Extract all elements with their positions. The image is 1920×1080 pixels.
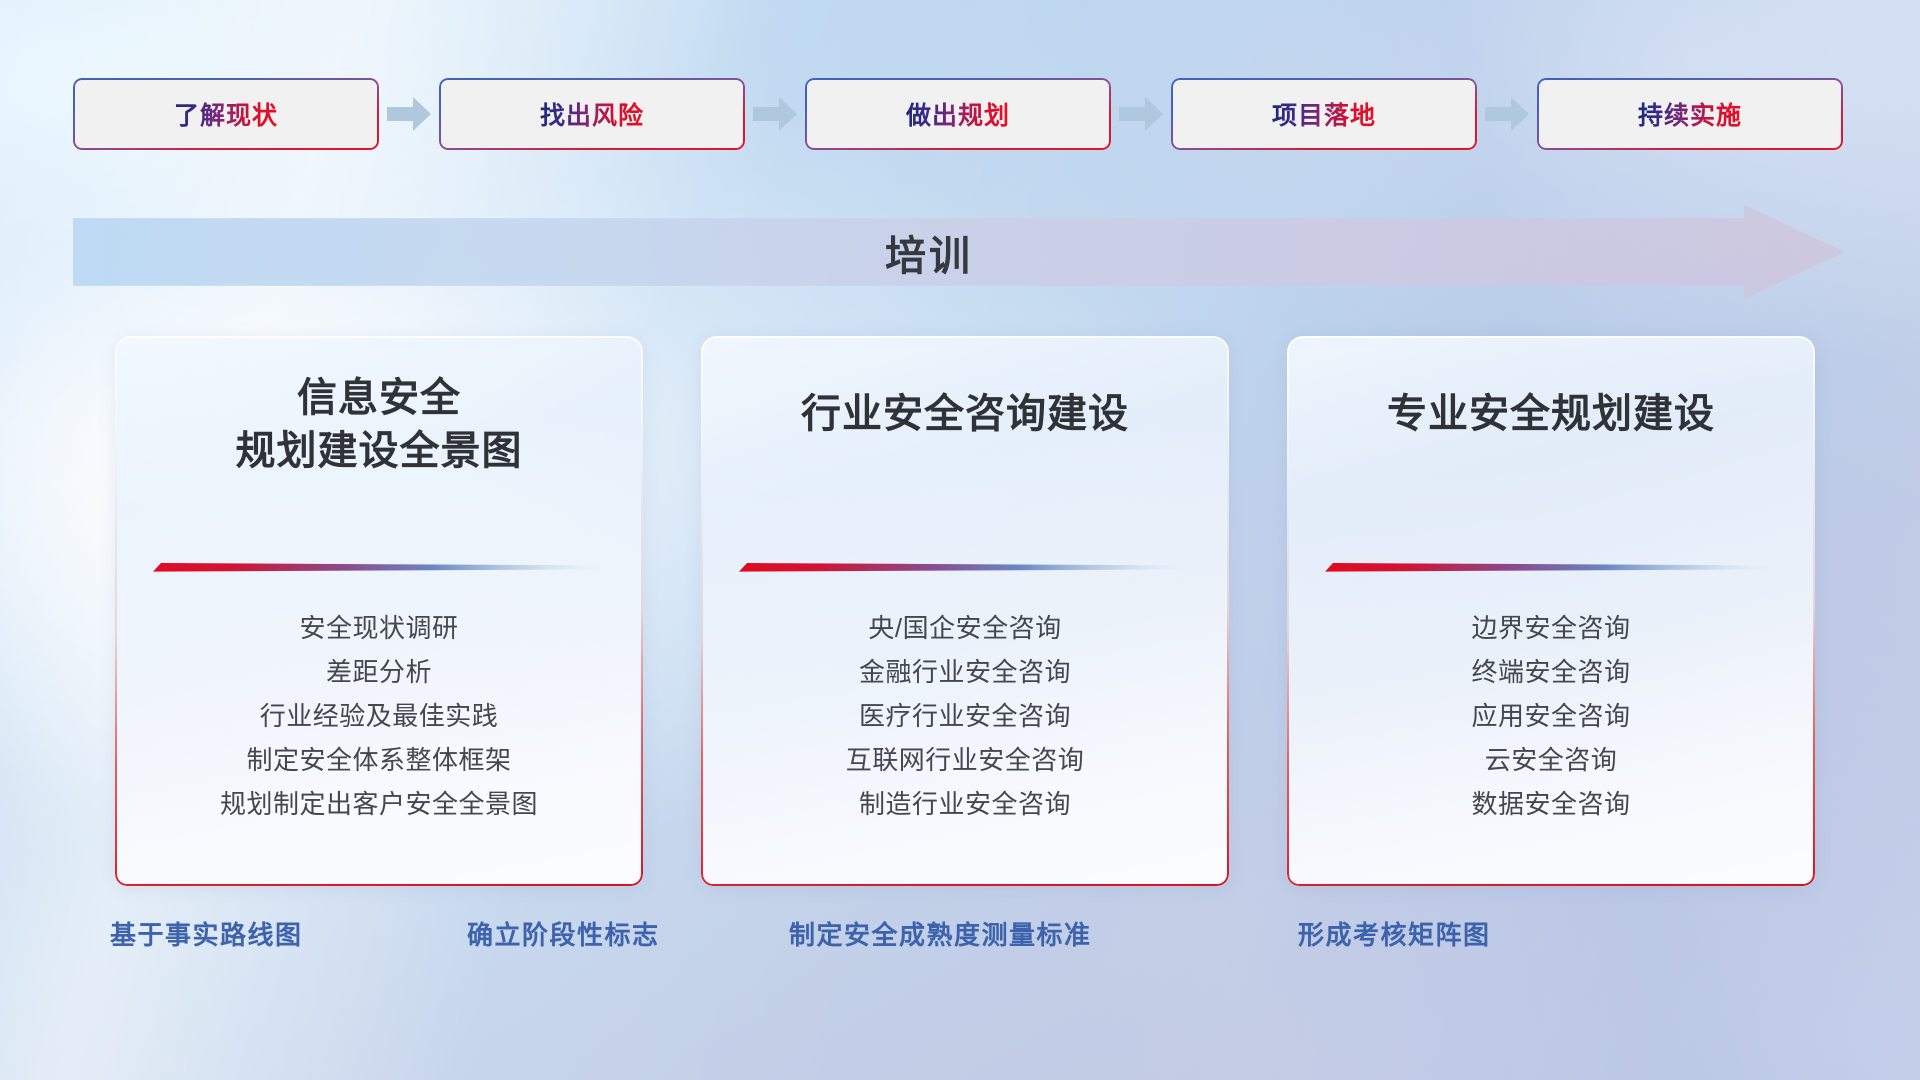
card-item-list: 边界安全咨询 终端安全咨询 应用安全咨询 云安全咨询 数据安全咨询 xyxy=(1287,611,1815,822)
process-steps: 了解现状 找出风险 做出规划 项目落地 持续实施 xyxy=(73,78,1845,150)
process-step-label: 了解现状 xyxy=(174,96,278,132)
arrow-right-icon xyxy=(1477,78,1537,150)
process-step-2[interactable]: 找出风险 xyxy=(439,78,745,150)
card-title: 行业安全咨询建设 xyxy=(801,388,1129,441)
capability-card-3[interactable]: 专业安全规划建设 边界安全咨询 终端安全咨询 xyxy=(1287,336,1815,886)
card-title: 专业安全规划建设 xyxy=(1387,388,1715,441)
process-step-label: 持续实施 xyxy=(1638,96,1742,132)
card-list-item: 云安全咨询 xyxy=(1485,743,1618,778)
arrow-right-icon xyxy=(745,78,805,150)
card-divider xyxy=(739,560,1191,571)
card-list-item: 边界安全咨询 xyxy=(1471,611,1630,646)
capability-card-1[interactable]: 信息安全 规划建设全景图 安全现状调研 差 xyxy=(115,336,643,886)
outcome-labels: 基于事实路线图 确立阶段性标志 制定安全成熟度测量标准 形成考核矩阵图 xyxy=(0,915,1920,963)
capability-card-2[interactable]: 行业安全咨询建设 央/国企安全咨询 金融行业安全咨询 xyxy=(701,336,1229,886)
card-divider xyxy=(153,560,605,571)
process-step-label: 找出风险 xyxy=(540,96,644,132)
process-step-label: 做出规划 xyxy=(906,96,1010,132)
card-list-item: 制定安全体系整体框架 xyxy=(246,743,511,778)
process-step-label: 项目落地 xyxy=(1272,96,1376,132)
training-banner: 培训 xyxy=(73,205,1845,299)
process-step-3[interactable]: 做出规划 xyxy=(805,78,1111,150)
card-title-line: 行业安全咨询建设 xyxy=(801,388,1129,441)
outcome-label-2: 确立阶段性标志 xyxy=(467,915,660,952)
card-list-item: 制造行业安全咨询 xyxy=(859,787,1071,822)
outcome-label-1: 基于事实路线图 xyxy=(110,915,303,952)
card-title-line: 规划建设全景图 xyxy=(236,425,523,478)
arrow-right-icon xyxy=(379,78,439,150)
card-list-item: 数据安全咨询 xyxy=(1471,787,1630,822)
process-step-1[interactable]: 了解现状 xyxy=(73,78,379,150)
card-list-item: 互联网行业安全咨询 xyxy=(846,743,1085,778)
card-list-item: 行业经验及最佳实践 xyxy=(260,699,499,734)
card-list-item: 应用安全咨询 xyxy=(1471,699,1630,734)
card-list-item: 央/国企安全咨询 xyxy=(868,611,1061,646)
card-title-line: 专业安全规划建设 xyxy=(1387,388,1715,441)
outcome-label-4: 形成考核矩阵图 xyxy=(1298,915,1491,952)
card-list-item: 金融行业安全咨询 xyxy=(859,655,1071,690)
card-title: 信息安全 规划建设全景图 xyxy=(236,372,523,478)
card-list-item: 医疗行业安全咨询 xyxy=(859,699,1071,734)
process-step-5[interactable]: 持续实施 xyxy=(1537,78,1843,150)
card-divider xyxy=(1325,560,1777,571)
capability-cards: 信息安全 规划建设全景图 安全现状调研 差 xyxy=(115,336,1815,886)
card-item-list: 安全现状调研 差距分析 行业经验及最佳实践 制定安全体系整体框架 规划制定出客户… xyxy=(115,611,643,822)
card-list-item: 规划制定出客户安全全景图 xyxy=(220,787,538,822)
card-title-line: 信息安全 xyxy=(236,372,523,425)
card-list-item: 安全现状调研 xyxy=(299,611,458,646)
banner-title: 培训 xyxy=(73,205,1845,299)
card-list-item: 差距分析 xyxy=(326,655,432,690)
arrow-right-icon xyxy=(1111,78,1171,150)
card-list-item: 终端安全咨询 xyxy=(1471,655,1630,690)
process-step-4[interactable]: 项目落地 xyxy=(1171,78,1477,150)
card-item-list: 央/国企安全咨询 金融行业安全咨询 医疗行业安全咨询 互联网行业安全咨询 制造行… xyxy=(701,611,1229,822)
outcome-label-3: 制定安全成熟度测量标准 xyxy=(789,915,1092,952)
